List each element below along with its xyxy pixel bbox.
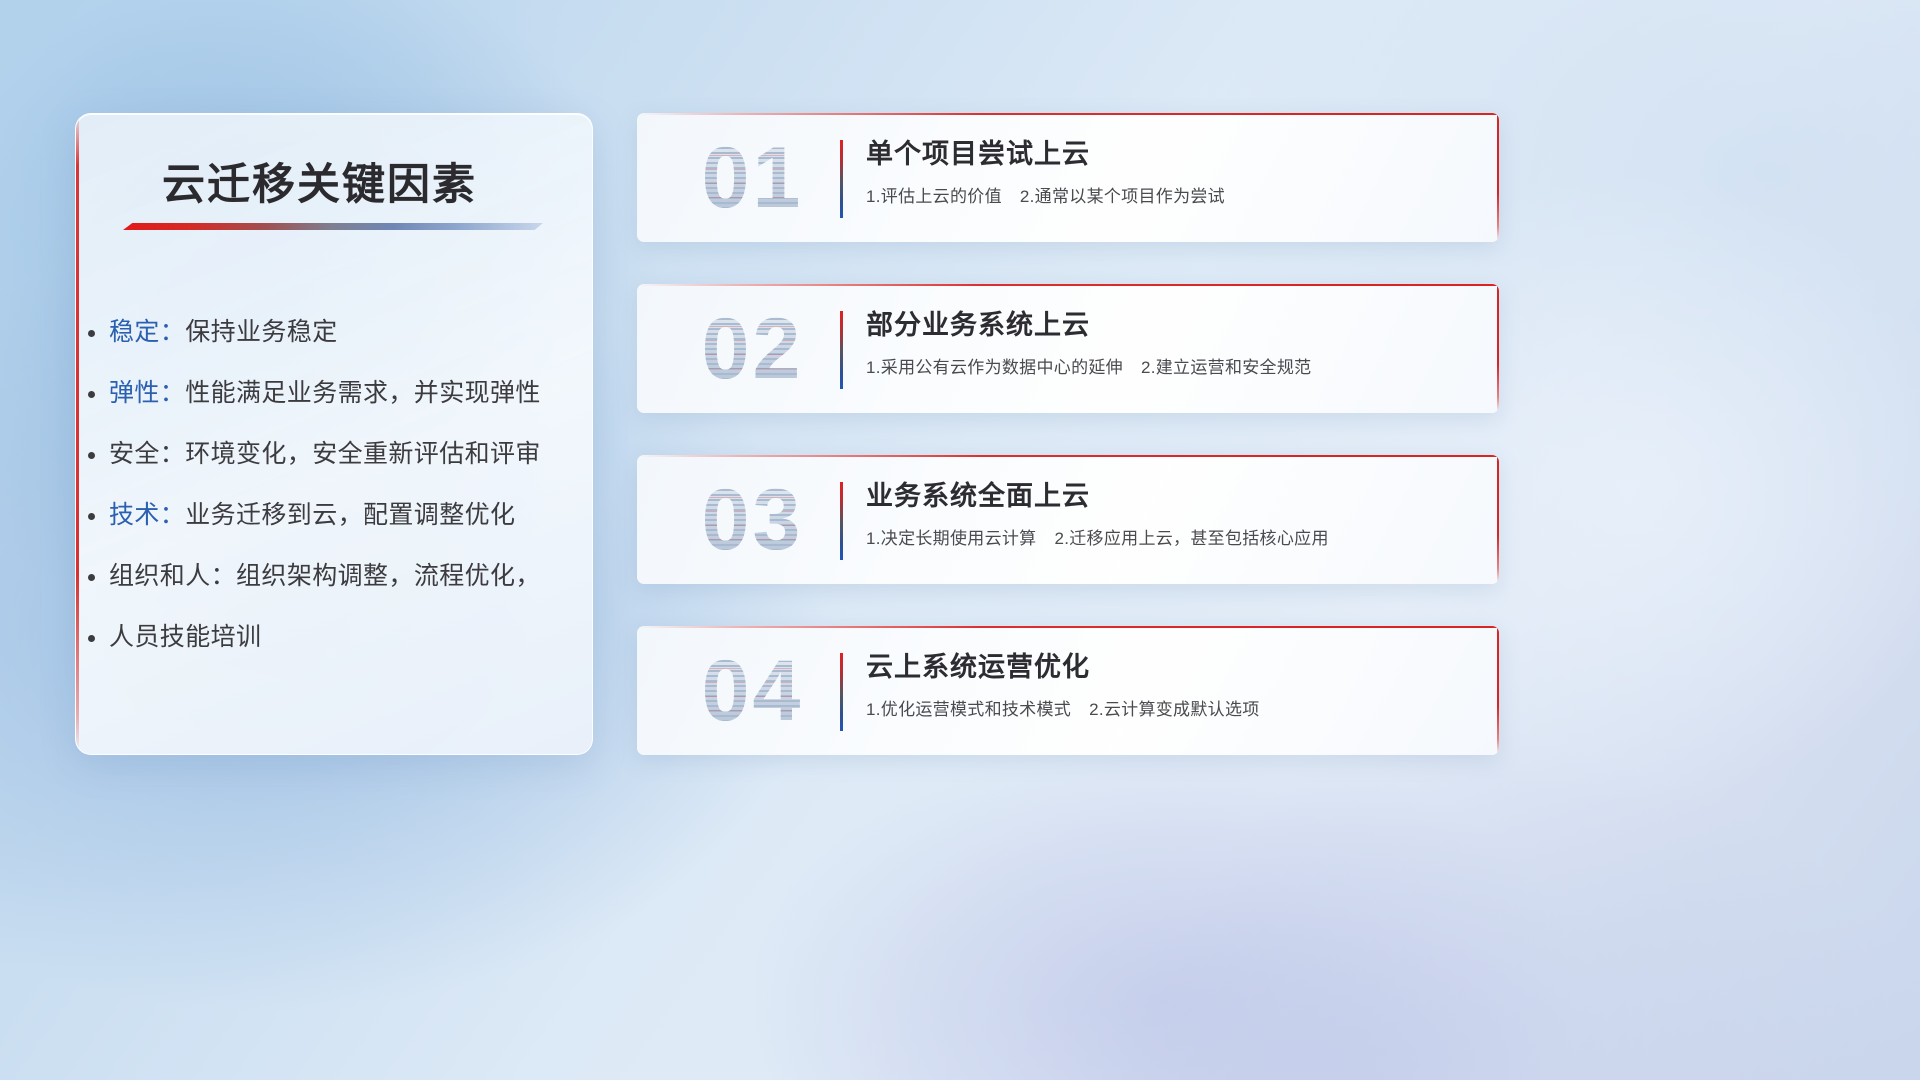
stage-number: 01 bbox=[665, 127, 840, 229]
stage-divider-accent bbox=[840, 140, 843, 218]
stage-number: 04 bbox=[665, 640, 840, 742]
stage-description: 1.采用公有云作为数据中心的延伸2.建立运营和安全规范 bbox=[866, 356, 1473, 380]
factor-value: 性能满足业务需求，并实现弹性 bbox=[185, 379, 541, 407]
stage-title: 部分业务系统上云 bbox=[866, 306, 1473, 344]
description-item: 1.优化运营模式和技术模式 bbox=[866, 700, 1071, 719]
stage-divider-accent bbox=[840, 311, 843, 389]
factor-row: 组织和人：组织架构调整，流程优化， bbox=[109, 546, 568, 607]
factor-list: 稳定：保持业务稳定弹性：性能满足业务需求，并实现弹性安全：环境变化，安全重新评估… bbox=[109, 302, 568, 668]
stage-card[interactable]: 0303业务系统全面上云1.决定长期使用云计算2.迁移应用上云，甚至包括核心应用 bbox=[637, 455, 1499, 584]
stage-card-body: 部分业务系统上云1.采用公有云作为数据中心的延伸2.建立运营和安全规范 bbox=[866, 306, 1473, 380]
factor-value: 环境变化，安全重新评估和评审 bbox=[185, 440, 541, 468]
factor-row: 安全：环境变化，安全重新评估和评审 bbox=[109, 424, 568, 485]
slide-canvas: 云迁移关键因素 稳定：保持业务稳定弹性：性能满足业务需求，并实现弹性安全：环境变… bbox=[0, 0, 1920, 1080]
stage-divider-accent bbox=[840, 482, 843, 560]
stage-description: 1.决定长期使用云计算2.迁移应用上云，甚至包括核心应用 bbox=[866, 527, 1473, 551]
stage-card[interactable]: 0101单个项目尝试上云1.评估上云的价值2.通常以某个项目作为尝试 bbox=[637, 113, 1499, 242]
title-underline-accent bbox=[123, 223, 543, 230]
stage-card-body: 单个项目尝试上云1.评估上云的价值2.通常以某个项目作为尝试 bbox=[866, 135, 1473, 209]
migration-stage-cards: 0101单个项目尝试上云1.评估上云的价值2.通常以某个项目作为尝试0202部分… bbox=[637, 113, 1499, 797]
description-item: 1.决定长期使用云计算 bbox=[866, 529, 1036, 548]
factor-row: 弹性：性能满足业务需求，并实现弹性 bbox=[109, 363, 568, 424]
description-item: 2.通常以某个项目作为尝试 bbox=[1020, 187, 1225, 206]
stage-description: 1.优化运营模式和技术模式2.云计算变成默认选项 bbox=[866, 698, 1473, 722]
stage-description: 1.评估上云的价值2.通常以某个项目作为尝试 bbox=[866, 185, 1473, 209]
factor-value: 组织架构调整，流程优化， bbox=[236, 562, 541, 590]
stage-card-body: 业务系统全面上云1.决定长期使用云计算2.迁移应用上云，甚至包括核心应用 bbox=[866, 477, 1473, 551]
factor-row: 人员技能培训 bbox=[109, 607, 568, 668]
factor-row: 稳定：保持业务稳定 bbox=[109, 302, 568, 363]
stage-card-body: 云上系统运营优化1.优化运营模式和技术模式2.云计算变成默认选项 bbox=[866, 648, 1473, 722]
panel-title: 云迁移关键因素 bbox=[162, 150, 477, 212]
description-item: 1.采用公有云作为数据中心的延伸 bbox=[866, 358, 1123, 377]
stage-card[interactable]: 0202部分业务系统上云1.采用公有云作为数据中心的延伸2.建立运营和安全规范 bbox=[637, 284, 1499, 413]
stage-card[interactable]: 0404云上系统运营优化1.优化运营模式和技术模式2.云计算变成默认选项 bbox=[637, 626, 1499, 755]
factor-label: 稳定： bbox=[109, 318, 185, 346]
description-item: 2.建立运营和安全规范 bbox=[1141, 358, 1311, 377]
factor-label: 技术： bbox=[109, 501, 185, 529]
key-factors-panel: 云迁移关键因素 稳定：保持业务稳定弹性：性能满足业务需求，并实现弹性安全：环境变… bbox=[75, 113, 593, 755]
description-item: 1.评估上云的价值 bbox=[866, 187, 1002, 206]
stage-title: 单个项目尝试上云 bbox=[866, 135, 1473, 173]
stage-title: 业务系统全面上云 bbox=[866, 477, 1473, 515]
factor-label: 组织和人： bbox=[109, 562, 236, 590]
description-item: 2.迁移应用上云，甚至包括核心应用 bbox=[1054, 529, 1328, 548]
stage-number: 03 bbox=[665, 469, 840, 571]
factor-label: 弹性： bbox=[109, 379, 185, 407]
stage-title: 云上系统运营优化 bbox=[866, 648, 1473, 686]
factor-value: 业务迁移到云，配置调整优化 bbox=[185, 501, 515, 529]
factor-value: 人员技能培训 bbox=[109, 623, 261, 651]
factor-row: 技术：业务迁移到云，配置调整优化 bbox=[109, 485, 568, 546]
factor-value: 保持业务稳定 bbox=[185, 318, 337, 346]
stage-number: 02 bbox=[665, 298, 840, 400]
description-item: 2.云计算变成默认选项 bbox=[1089, 700, 1259, 719]
stage-divider-accent bbox=[840, 653, 843, 731]
factor-label: 安全： bbox=[109, 440, 185, 468]
